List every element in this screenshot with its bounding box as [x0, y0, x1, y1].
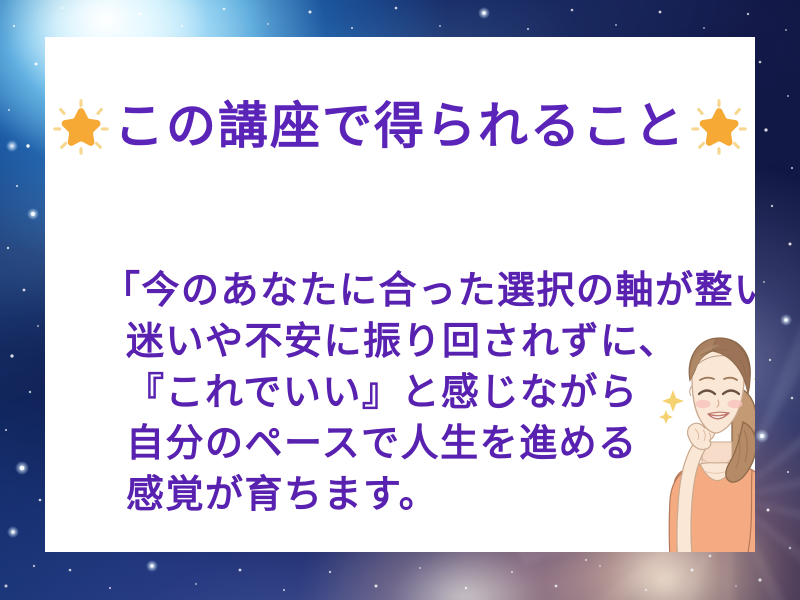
body-line-3: 『これでいい』と感じながら [102, 367, 702, 418]
content-card: この講座で得られること [45, 37, 755, 552]
body-line-2: 迷いや不安に振り回されずに、 [102, 316, 702, 367]
star-icon [688, 95, 750, 157]
page-title: この講座で得られること [114, 101, 686, 151]
body-line-1: 「今のあなたに合った選択の軸が整い、 [102, 265, 702, 316]
body-text-block: 「今のあなたに合った選択の軸が整い、 迷いや不安に振り回されずに、 『これでいい… [102, 265, 702, 520]
smiling-woman-illustration [640, 334, 755, 552]
title-row: この講座で得られること [45, 95, 755, 157]
body-line-5: 感覚が育ちます。 [102, 469, 702, 520]
slide-canvas: この講座で得られること [0, 0, 800, 600]
body-line-4: 自分のペースで人生を進める [102, 418, 702, 469]
star-icon [50, 95, 112, 157]
